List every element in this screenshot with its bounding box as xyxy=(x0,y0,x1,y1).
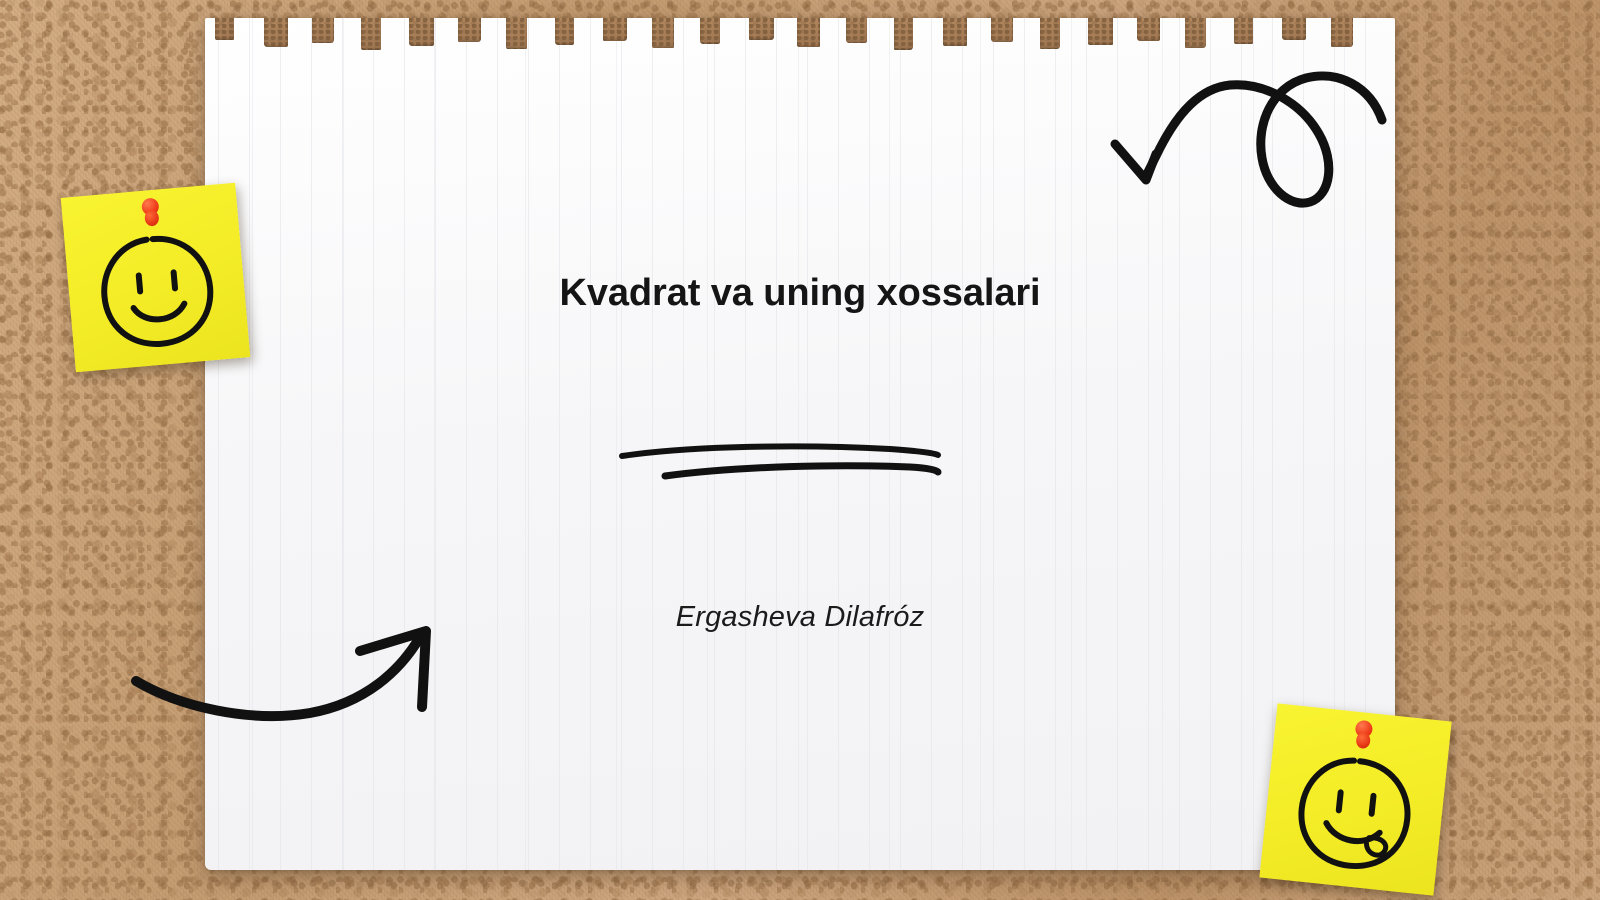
sticky-note-bottom-right[interactable] xyxy=(1259,703,1451,895)
paper-perforation-tab xyxy=(361,18,381,50)
slide-title: Kvadrat va uning xossalari xyxy=(0,272,1600,315)
paper-perforation-tab xyxy=(943,18,967,46)
paper-perforation-tab xyxy=(1282,18,1306,40)
pushpin-base xyxy=(1355,732,1371,749)
paper-perforation-tab xyxy=(991,18,1013,42)
paper-perforation-tab xyxy=(894,18,913,50)
paper-perforation-tab xyxy=(215,18,234,40)
paper-perforation-tab xyxy=(1040,18,1060,49)
slide-author: Ergasheva Dilafróz xyxy=(0,601,1600,634)
paper-perforation-tab xyxy=(652,18,674,48)
paper-perforation-tab xyxy=(603,18,627,41)
paper-perforation-tab xyxy=(312,18,334,43)
pushpin-icon xyxy=(140,197,162,229)
paper-perforation-tab xyxy=(409,18,434,46)
paper-perforation-tab xyxy=(555,18,574,45)
paper-perforation-tab xyxy=(1331,18,1353,47)
paper-perforation-tab xyxy=(846,18,867,43)
smiley-face-tongue-icon xyxy=(1287,746,1421,880)
paper-perforation-tab xyxy=(506,18,527,49)
paper-perforation-tab xyxy=(1088,18,1113,45)
paper-perforation-tab xyxy=(458,18,481,42)
paper-perforation-tab xyxy=(264,18,288,47)
pushpin-base xyxy=(144,210,159,227)
paper-perforation-tab xyxy=(1234,18,1253,44)
pushpin-icon xyxy=(1352,719,1374,751)
paper-perforation-tab xyxy=(797,18,820,47)
paper-perforation-tab xyxy=(1137,18,1160,41)
paper-perforation-tab xyxy=(749,18,774,40)
notebook-paper-sheet xyxy=(205,18,1395,870)
paper-perforation-tab xyxy=(1185,18,1206,48)
paper-perforation-tab xyxy=(700,18,720,44)
